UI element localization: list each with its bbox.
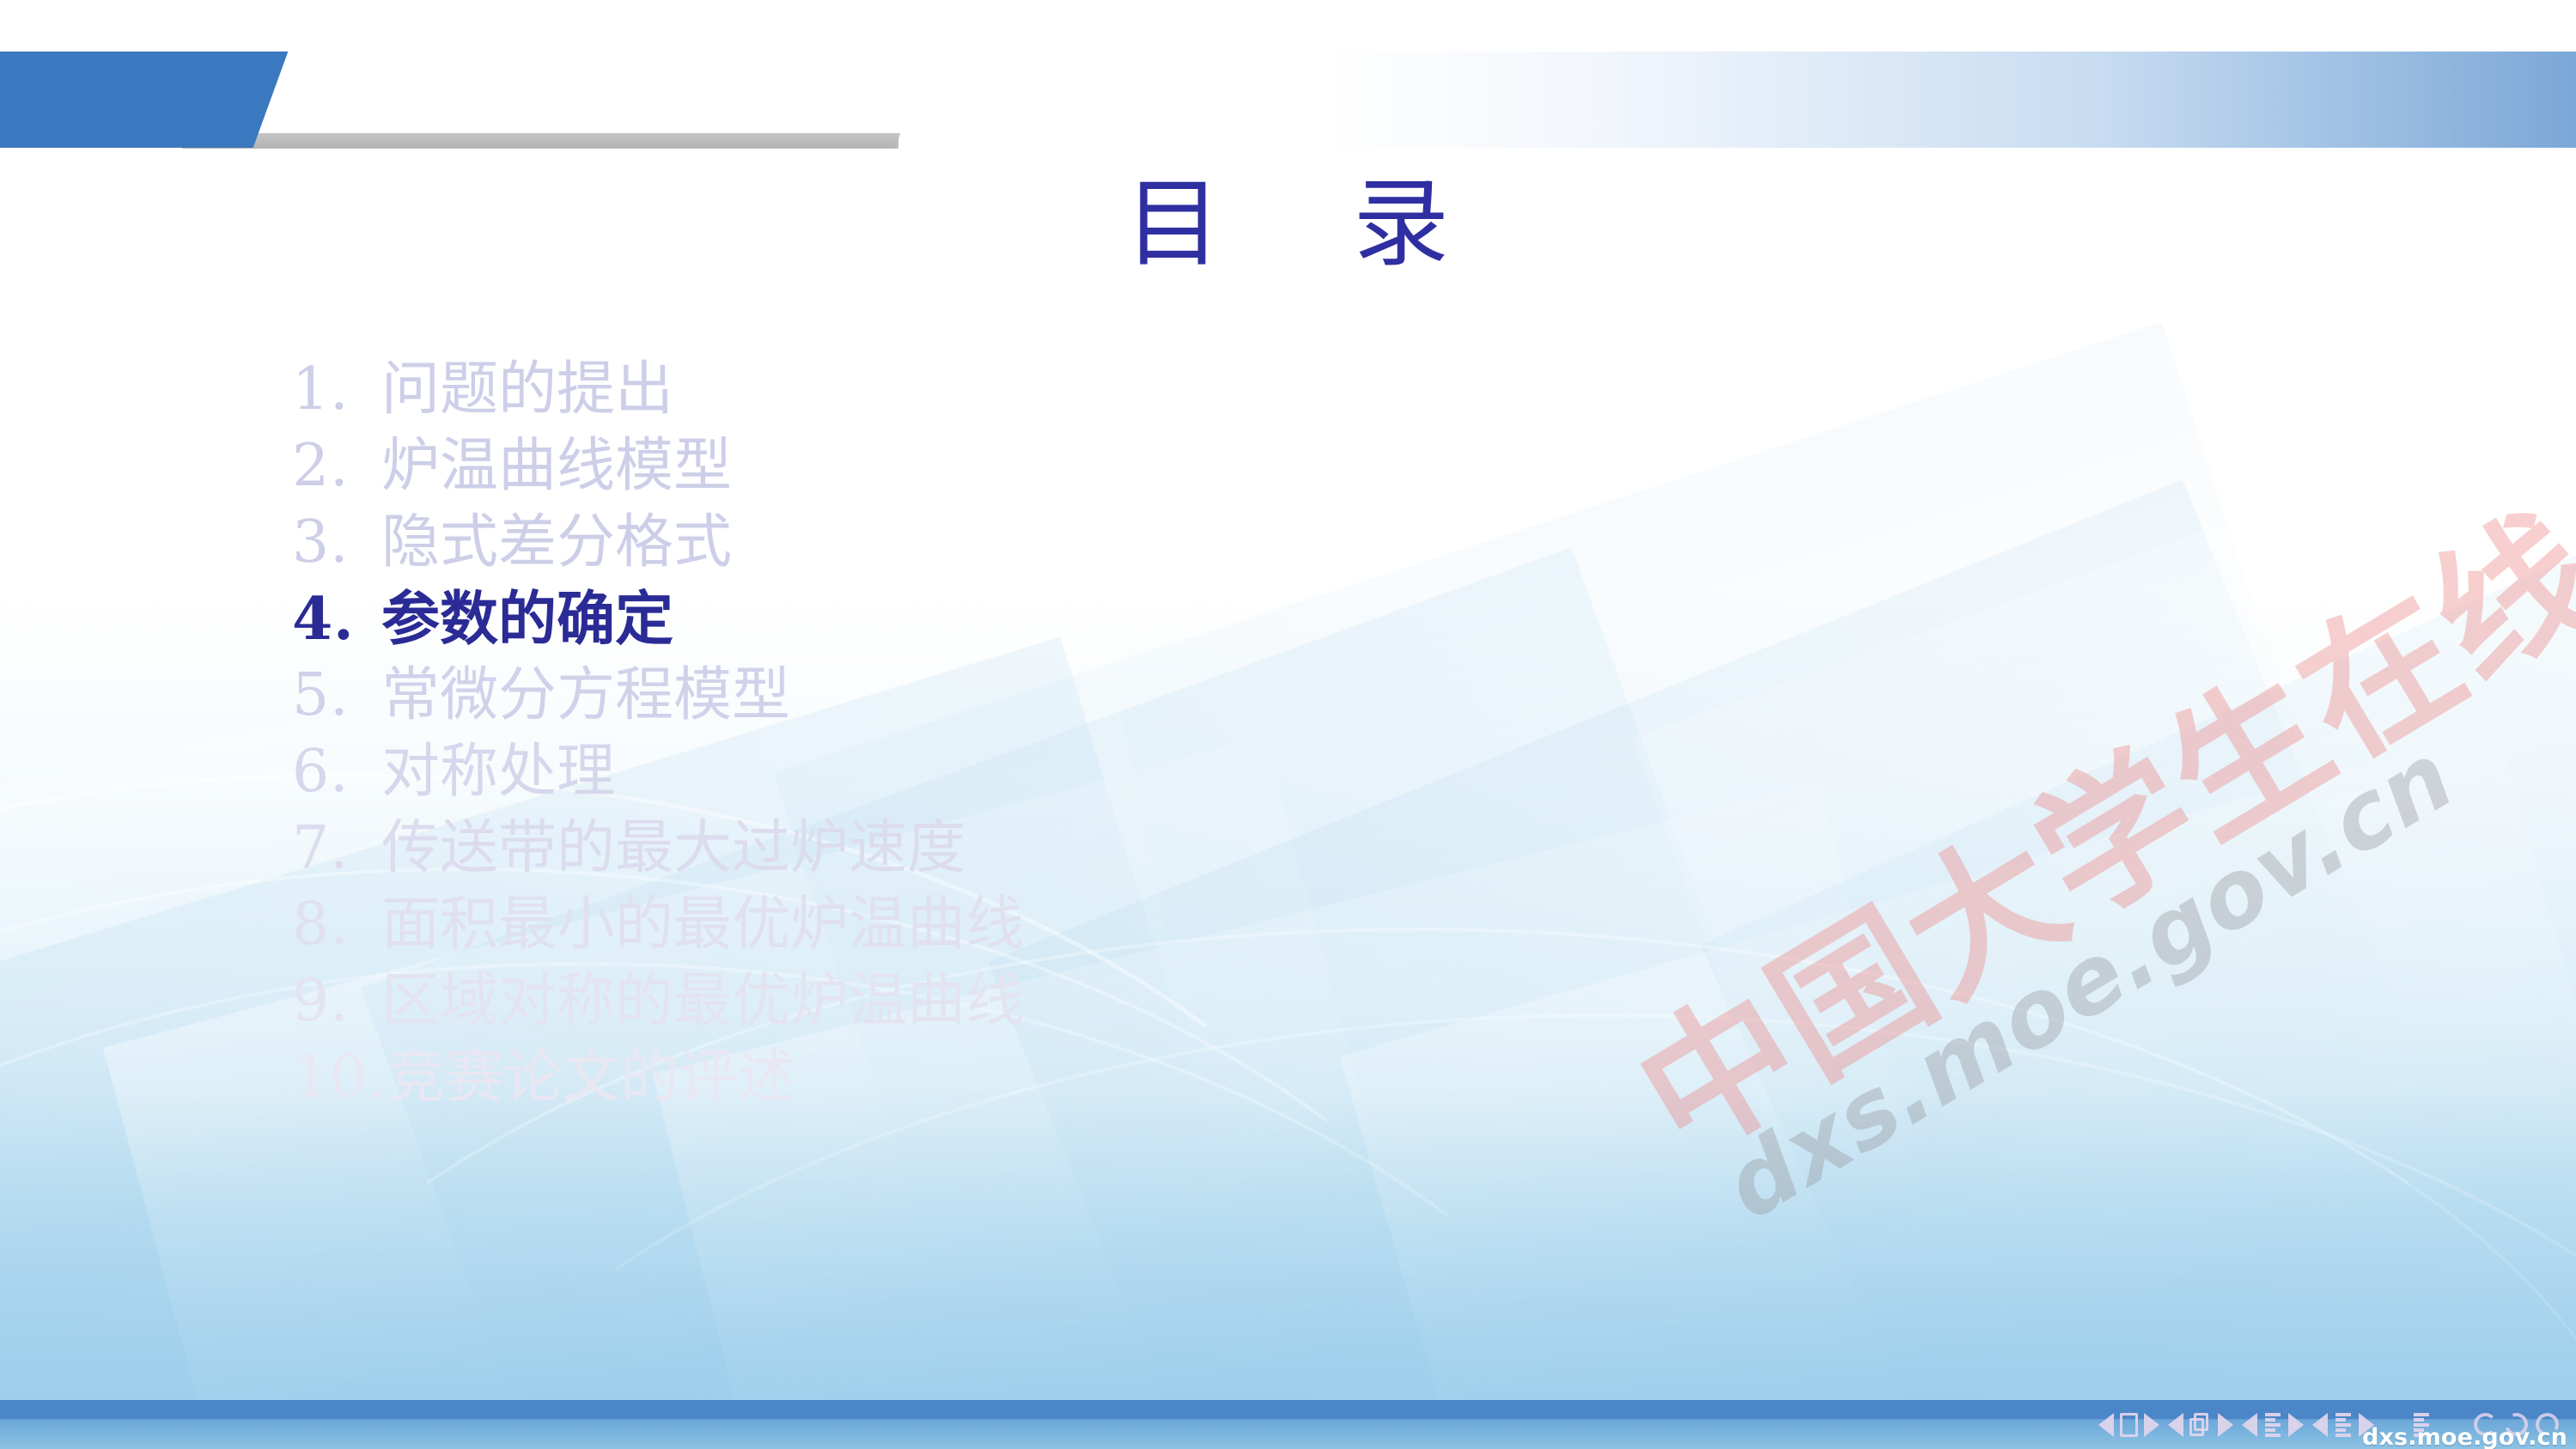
background-facet [1632,298,2576,1190]
list-item-number: 4. [292,590,381,648]
site-url: dxs.moe.gov.cn [2362,1424,2567,1449]
bottom-navigation-bar: dxs.moe.gov.cn [0,1400,2576,1449]
list-item[interactable]: 7. 传送带的最大过炉速度 [292,819,1580,878]
presentation-slide: 目 录 1. 问题的提出 2. 炉温曲线模型 3. 隐式差分格式 4. 参数的确… [0,0,2576,1449]
list-item[interactable]: 9. 区域对称的最优炉温曲线 [292,972,1580,1031]
triangle-right-icon[interactable] [2288,1413,2304,1437]
list-item[interactable]: 6. 对称处理 [292,743,1580,801]
background-bottom-wash [0,1088,2576,1449]
triangle-left-icon[interactable] [2242,1413,2257,1437]
page-title: 目 录 [0,172,2576,277]
list-item-number: 10. [292,1049,387,1107]
rectangle-icon[interactable] [2120,1413,2138,1437]
triangle-left-icon[interactable] [2312,1413,2328,1437]
list-item-label: 传送带的最大过炉速度 [381,819,965,878]
list-item-number: 5. [292,667,381,725]
list-lines-icon[interactable] [2263,1412,2282,1438]
watermark: 中国大学生在线 dxs.moe.gov.cn [1451,419,2576,1449]
list-item-number: 6. [292,743,381,801]
table-of-contents: 1. 问题的提出 2. 炉温曲线模型 3. 隐式差分格式 4. 参数的确定 5.… [292,361,1580,1125]
triangle-right-icon[interactable] [2144,1413,2159,1437]
list-item-number: 7. [292,819,381,878]
triangle-right-icon[interactable] [2218,1413,2233,1437]
list-item-label: 竞赛论文的评述 [387,1049,795,1107]
outline-nav-group [2242,1412,2304,1438]
list-item[interactable]: 1. 问题的提出 [292,361,1580,419]
watermark-url: dxs.moe.gov.cn [1708,722,2472,1240]
slide-nav-group [2098,1413,2159,1437]
list-item-label: 对称处理 [381,743,615,801]
list-lines-icon[interactable] [2334,1412,2353,1438]
background-facet [1701,456,2576,1449]
triangle-left-icon[interactable] [2168,1413,2183,1437]
header-gradient-band [1322,52,2576,148]
list-item-number: 8. [292,896,381,954]
stacked-pages-icon[interactable] [2189,1413,2212,1437]
list-item[interactable]: 3. 隐式差分格式 [292,514,1580,572]
list-item[interactable]: 8. 面积最小的最优炉温曲线 [292,896,1580,954]
list-item-number: 3. [292,514,381,572]
list-item-label: 问题的提出 [381,361,673,419]
list-item-label: 隐式差分格式 [381,514,732,572]
header-gray-rule-skew [182,133,901,149]
list-item[interactable]: 2. 炉温曲线模型 [292,437,1580,496]
list-item[interactable]: 10. 竞赛论文的评述 [292,1049,1580,1107]
triangle-left-icon[interactable] [2098,1413,2114,1437]
list-item-label: 参数的确定 [381,590,673,648]
list-item-label: 炉温曲线模型 [381,437,732,496]
list-item-number: 9. [292,972,381,1031]
list-item-number: 2. [292,437,381,496]
list-item[interactable]: 5. 常微分方程模型 [292,667,1580,725]
list-item-label: 常微分方程模型 [381,667,790,725]
list-item-number: 1. [292,361,381,419]
watermark-brand: 中国大学生在线 [1592,452,2576,1196]
list-item-label: 面积最小的最优炉温曲线 [381,896,1024,954]
list-item-active[interactable]: 4. 参数的确定 [292,590,1580,648]
section-nav-group [2168,1413,2233,1437]
list-item-label: 区域对称的最优炉温曲线 [381,972,1024,1031]
